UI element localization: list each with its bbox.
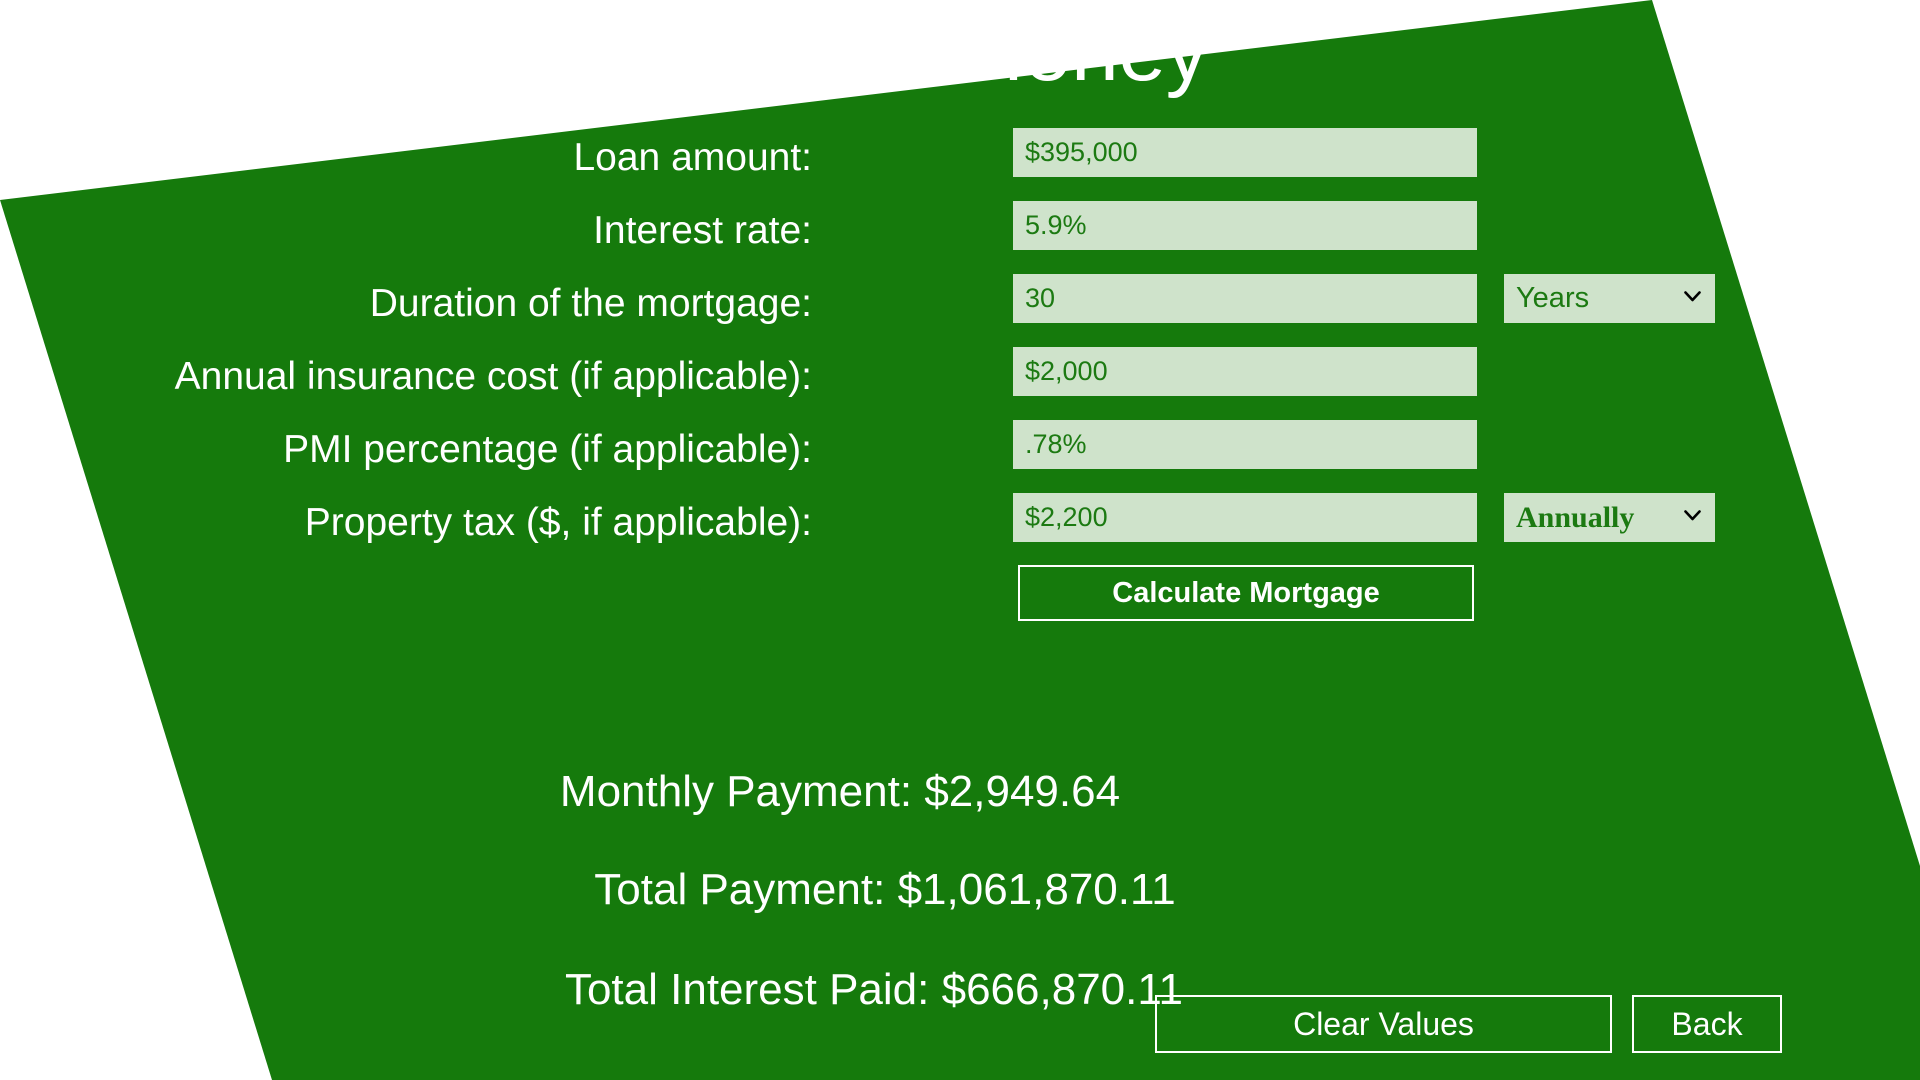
result-value: $2,949.64 — [924, 767, 1120, 816]
form-row-label: Loan amount: — [0, 134, 812, 182]
property-tax-period-select[interactable]: Annually — [1504, 493, 1715, 542]
result-line: Total Payment: $1,061,870.11 — [0, 864, 1920, 916]
form-row-label: Duration of the mortgage: — [0, 280, 812, 328]
form-row-label: Property tax ($, if applicable): — [0, 499, 812, 547]
form-row-input[interactable] — [1013, 274, 1477, 323]
duration-unit-select[interactable]: Years — [1504, 274, 1715, 323]
form-row: Interest rate: — [0, 201, 1920, 274]
page-title: Quick Money — [0, 8, 1920, 94]
form-row-label: Interest rate: — [0, 207, 812, 255]
form-row: Property tax ($, if applicable):Annually — [0, 493, 1920, 566]
select-selected-value: Years — [1516, 274, 1589, 323]
form-row-input[interactable] — [1013, 201, 1477, 250]
form-row: Annual insurance cost (if applicable): — [0, 347, 1920, 420]
result-line: Monthly Payment: $2,949.64 — [0, 766, 1920, 818]
form-row-input[interactable] — [1013, 347, 1477, 396]
form-row-label: Annual insurance cost (if applicable): — [0, 353, 812, 401]
form-row: Loan amount: — [0, 128, 1920, 201]
result-value: $1,061,870.11 — [898, 865, 1176, 914]
form-row-label: PMI percentage (if applicable): — [0, 426, 812, 474]
chevron-down-icon — [1684, 291, 1701, 303]
result-label: Total Interest Paid: — [565, 965, 929, 1014]
form-row-input[interactable] — [1013, 420, 1477, 469]
app-root: Quick Money Loan amount:Interest rate:Du… — [0, 0, 1920, 1080]
result-label: Monthly Payment: — [560, 767, 912, 816]
calculate-mortgage-button[interactable]: Calculate Mortgage — [1018, 565, 1474, 621]
clear-values-button[interactable]: Clear Values — [1155, 995, 1612, 1053]
mortgage-form: Loan amount:Interest rate:Duration of th… — [0, 128, 1920, 566]
form-row: Duration of the mortgage:Years — [0, 274, 1920, 347]
form-row-input[interactable] — [1013, 493, 1477, 542]
select-selected-value: Annually — [1516, 493, 1634, 542]
back-button[interactable]: Back — [1632, 995, 1782, 1053]
app-content: Quick Money Loan amount:Interest rate:Du… — [0, 0, 1920, 1080]
form-row-input[interactable] — [1013, 128, 1477, 177]
result-label: Total Payment: — [594, 865, 885, 914]
form-row: PMI percentage (if applicable): — [0, 420, 1920, 493]
chevron-down-icon — [1684, 510, 1701, 522]
result-value: $666,870.11 — [942, 965, 1183, 1014]
